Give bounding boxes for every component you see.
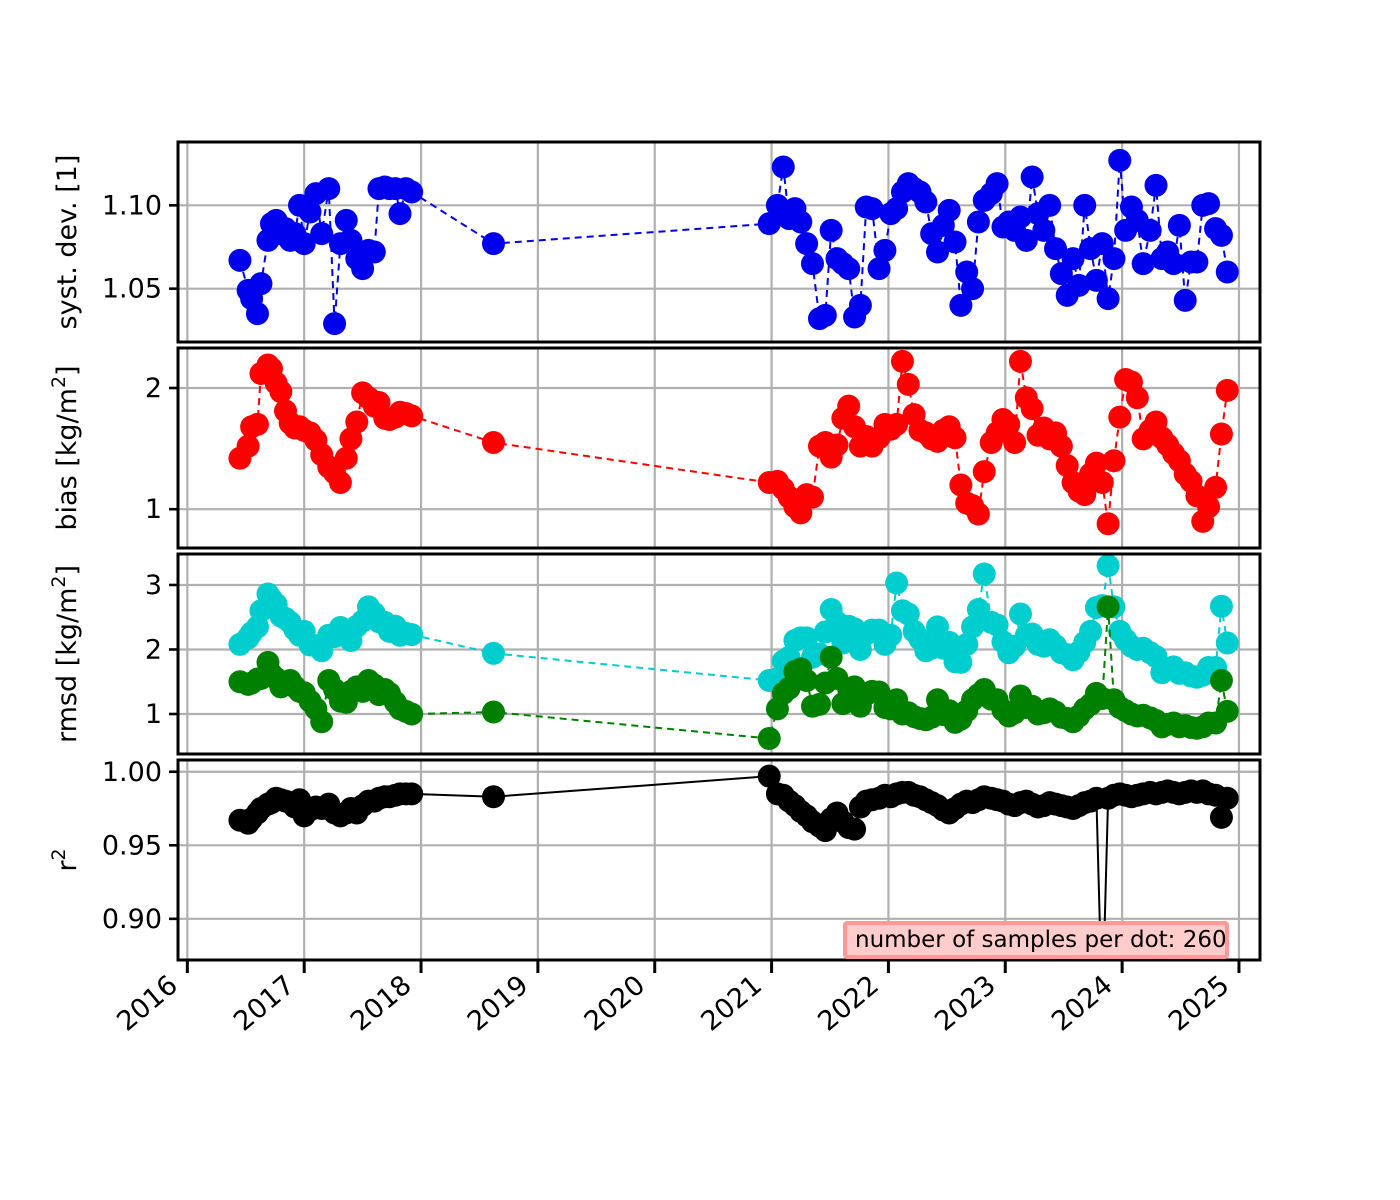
timeseries-figure: 1.051.10syst. dev. [1]12bias [kg/m2]123r…	[0, 0, 1400, 1200]
data-point	[795, 232, 818, 255]
data-point	[1168, 214, 1191, 237]
x-tick-label: 2024	[1046, 970, 1119, 1038]
data-point	[944, 231, 967, 254]
data-point	[1079, 620, 1102, 643]
data-point	[808, 693, 831, 716]
data-point	[885, 572, 908, 595]
data-layer	[228, 149, 1238, 1025]
y-tick-label: 0.90	[102, 904, 162, 935]
data-point	[1003, 431, 1026, 454]
panel-frame-bias	[178, 348, 1260, 548]
data-point	[400, 181, 423, 204]
data-point	[914, 191, 937, 214]
data-point	[1216, 261, 1239, 284]
data-point	[246, 413, 269, 436]
data-point	[1097, 287, 1120, 310]
data-point	[1216, 379, 1239, 402]
data-point	[1038, 194, 1061, 217]
data-point	[1204, 476, 1227, 499]
y-axis-label-syst-dev: syst. dev. [1]	[52, 155, 83, 330]
data-point	[1210, 423, 1233, 446]
data-point	[1210, 224, 1233, 247]
data-point	[1050, 435, 1073, 458]
y-tick-label: 1	[145, 699, 162, 730]
x-tick-label: 2025	[1163, 970, 1236, 1038]
panel-syst-dev-data	[228, 149, 1238, 335]
data-point	[772, 156, 795, 179]
data-point	[400, 623, 423, 646]
data-point	[1216, 700, 1239, 723]
data-point	[1009, 350, 1032, 373]
data-point	[1009, 603, 1032, 626]
data-point	[1139, 219, 1162, 242]
data-point	[237, 435, 260, 458]
y-axis-label-bias: bias [kg/m2]	[48, 365, 83, 530]
y-tick-label: 2	[145, 634, 162, 665]
data-point	[820, 219, 843, 242]
data-point	[1097, 512, 1120, 535]
y-axis-label-rmsd: rmsd [kg/m2]	[48, 565, 83, 743]
data-point	[801, 486, 824, 509]
x-tick-label: 2023	[929, 970, 1002, 1038]
x-tick-label: 2020	[579, 970, 652, 1038]
data-point	[1174, 289, 1197, 312]
data-point	[389, 202, 412, 225]
data-point	[873, 239, 896, 262]
data-point	[345, 410, 368, 433]
data-point	[986, 172, 1009, 195]
y-tick-label: 2	[145, 373, 162, 404]
data-point	[967, 211, 990, 234]
data-point	[1216, 787, 1239, 810]
data-point	[879, 624, 902, 647]
x-tick-label: 2016	[111, 970, 184, 1038]
data-point	[323, 312, 346, 335]
data-point	[1102, 247, 1125, 270]
y-tick-label: 3	[145, 570, 162, 601]
y-tick-label: 1.00	[102, 757, 162, 788]
data-point	[758, 727, 781, 750]
data-point	[1185, 251, 1208, 274]
y-tick-label: 1.10	[102, 190, 162, 221]
y-tick-label: 0.95	[102, 830, 162, 861]
data-point	[1102, 449, 1125, 472]
data-point	[801, 252, 824, 275]
y-tick-label: 1	[145, 494, 162, 525]
data-point	[1210, 595, 1233, 618]
data-point	[1108, 149, 1131, 172]
x-tick-label: 2017	[228, 970, 301, 1038]
data-point	[1210, 669, 1233, 692]
x-tick-label: 2019	[462, 970, 535, 1038]
data-point	[269, 380, 292, 403]
panel-rmsd-data	[228, 554, 1238, 750]
panel-bias-data	[228, 350, 1238, 535]
data-point	[938, 199, 961, 222]
data-point	[837, 395, 860, 418]
data-point	[482, 642, 505, 665]
data-point	[820, 646, 843, 669]
data-point	[1091, 471, 1114, 494]
data-point	[363, 241, 386, 264]
data-point	[310, 710, 333, 733]
y-tick-label: 1.05	[102, 274, 162, 305]
x-tick-label: 2021	[696, 970, 769, 1038]
axes-layer	[169, 142, 1260, 973]
data-point	[944, 426, 967, 449]
data-point	[1126, 386, 1149, 409]
data-point	[1197, 192, 1220, 215]
data-point	[973, 460, 996, 483]
data-point	[400, 404, 423, 427]
data-point	[249, 272, 272, 295]
data-point	[317, 177, 340, 200]
data-point	[789, 211, 812, 234]
data-point	[400, 703, 423, 726]
data-point	[1021, 166, 1044, 189]
data-point	[826, 433, 849, 456]
annotation-text: number of samples per dot: 260	[855, 927, 1227, 953]
figure-canvas: 1.051.10syst. dev. [1]12bias [kg/m2]123r…	[0, 0, 1400, 1200]
data-point	[335, 447, 358, 470]
y-axis-label-r2: r2	[48, 848, 83, 871]
data-point	[482, 785, 505, 808]
text-layer: 1.051.10syst. dev. [1]12bias [kg/m2]123r…	[48, 155, 1235, 1038]
data-point	[849, 294, 872, 317]
data-point	[1021, 397, 1044, 420]
data-point	[482, 431, 505, 454]
data-point	[967, 503, 990, 526]
data-point	[246, 302, 269, 325]
data-point	[335, 209, 358, 232]
data-point	[1097, 554, 1120, 577]
data-point	[891, 350, 914, 373]
data-point	[329, 471, 352, 494]
data-point	[897, 373, 920, 396]
data-point	[1073, 194, 1096, 217]
data-point	[973, 563, 996, 586]
data-point	[482, 701, 505, 724]
x-tick-label: 2018	[345, 970, 418, 1038]
data-point	[1145, 174, 1168, 197]
data-point	[228, 249, 251, 272]
data-point	[1108, 406, 1131, 429]
x-tick-label: 2022	[812, 970, 885, 1038]
data-point	[837, 257, 860, 280]
data-point	[843, 818, 866, 841]
data-point	[961, 277, 984, 300]
data-point	[1097, 595, 1120, 618]
data-point	[814, 304, 837, 327]
data-point	[400, 782, 423, 805]
data-point	[482, 232, 505, 255]
data-point	[1216, 632, 1239, 655]
